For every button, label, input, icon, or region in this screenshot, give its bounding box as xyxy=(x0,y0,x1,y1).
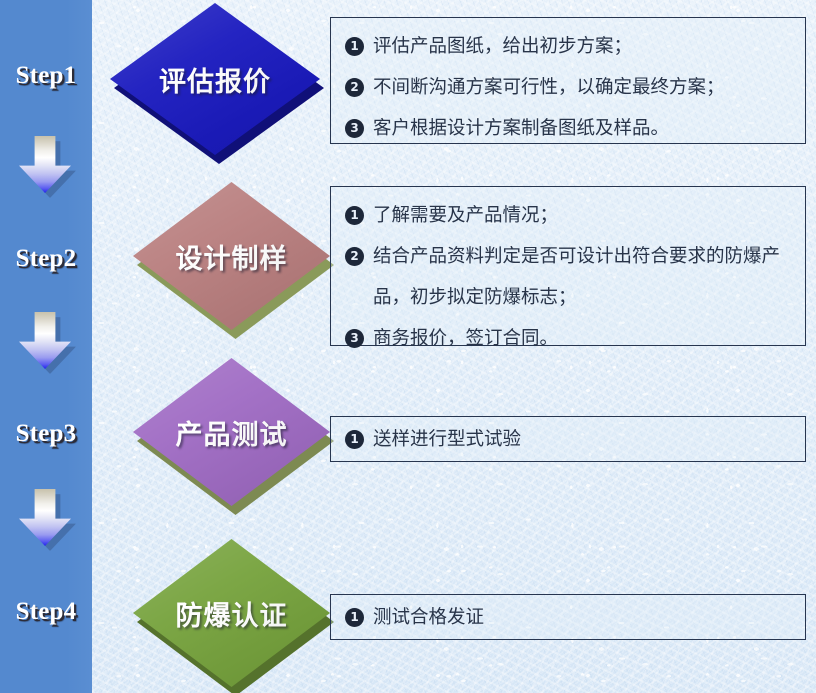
flowchart-canvas: Step1 Step2 Step3 Step4 评估报价 设计制样 产品测试 xyxy=(0,0,816,693)
bullet-icon: 1 xyxy=(345,430,364,449)
arrow-body xyxy=(19,312,71,369)
detail-box-step4: 1 测试合格发证 xyxy=(330,594,806,640)
arrow-body xyxy=(19,136,71,193)
down-arrow-icon-1 xyxy=(19,136,77,198)
detail-item-text: 客户根据设计方案制备图纸及样品。 xyxy=(373,108,791,149)
detail-box-step2: 1 了解需要及产品情况； 2 结合产品资料判定是否可设计出符合要求的防爆产品，初… xyxy=(330,186,806,346)
detail-box-step3: 1 送样进行型式试验 xyxy=(330,416,806,462)
bullet-icon: 2 xyxy=(345,78,364,97)
bullet-icon: 1 xyxy=(345,206,364,225)
diamond-step4-label: 防爆认证 xyxy=(176,594,288,633)
diamond-step2-label: 设计制样 xyxy=(176,237,288,276)
detail-item-text: 商务报价，签订合同。 xyxy=(373,318,791,359)
detail-item-text: 结合产品资料判定是否可设计出符合要求的防爆产品，初步拟定防爆标志； xyxy=(373,236,791,318)
detail-item-text: 了解需要及产品情况； xyxy=(373,195,791,236)
bullet-icon: 1 xyxy=(345,608,364,627)
detail-item-text: 评估产品图纸，给出初步方案； xyxy=(373,26,791,67)
arrow-body xyxy=(19,489,71,546)
diamond-step1-face: 评估报价 xyxy=(110,3,320,155)
detail-item: 3 商务报价，签订合同。 xyxy=(345,318,791,359)
detail-item: 2 结合产品资料判定是否可设计出符合要求的防爆产品，初步拟定防爆标志； xyxy=(345,236,791,318)
detail-item-text: 送样进行型式试验 xyxy=(373,419,791,460)
bullet-icon: 1 xyxy=(345,37,364,56)
detail-item-text: 测试合格发证 xyxy=(373,597,791,638)
detail-item: 1 送样进行型式试验 xyxy=(345,419,791,460)
diamond-step4[interactable]: 防爆认证 xyxy=(133,539,330,687)
diamond-step2[interactable]: 设计制样 xyxy=(133,182,330,330)
diamond-step4-face: 防爆认证 xyxy=(133,539,330,687)
down-arrow-icon-3 xyxy=(19,489,77,551)
detail-item-text: 不间断沟通方案可行性，以确定最终方案； xyxy=(373,67,791,108)
detail-item: 3 客户根据设计方案制备图纸及样品。 xyxy=(345,108,791,149)
step-label-3: Step3 xyxy=(0,420,92,448)
diamond-step3-label: 产品测试 xyxy=(176,413,288,452)
step-label-4: Step4 xyxy=(0,598,92,626)
diamond-step1-label: 评估报价 xyxy=(159,60,271,99)
bullet-icon: 3 xyxy=(345,119,364,138)
diamond-step3[interactable]: 产品测试 xyxy=(133,358,330,506)
down-arrow-icon-2 xyxy=(19,312,77,374)
detail-item: 1 评估产品图纸，给出初步方案； xyxy=(345,26,791,67)
step-label-1: Step1 xyxy=(0,62,92,90)
step-label-2: Step2 xyxy=(0,245,92,273)
diamond-step3-face: 产品测试 xyxy=(133,358,330,506)
diamond-step2-face: 设计制样 xyxy=(133,182,330,330)
bullet-icon: 3 xyxy=(345,329,364,348)
detail-item: 1 测试合格发证 xyxy=(345,597,791,638)
bullet-icon: 2 xyxy=(345,247,364,266)
detail-box-step1: 1 评估产品图纸，给出初步方案； 2 不间断沟通方案可行性，以确定最终方案； 3… xyxy=(330,17,806,144)
diamond-step1[interactable]: 评估报价 xyxy=(110,3,320,155)
detail-item: 1 了解需要及产品情况； xyxy=(345,195,791,236)
detail-item: 2 不间断沟通方案可行性，以确定最终方案； xyxy=(345,67,791,108)
